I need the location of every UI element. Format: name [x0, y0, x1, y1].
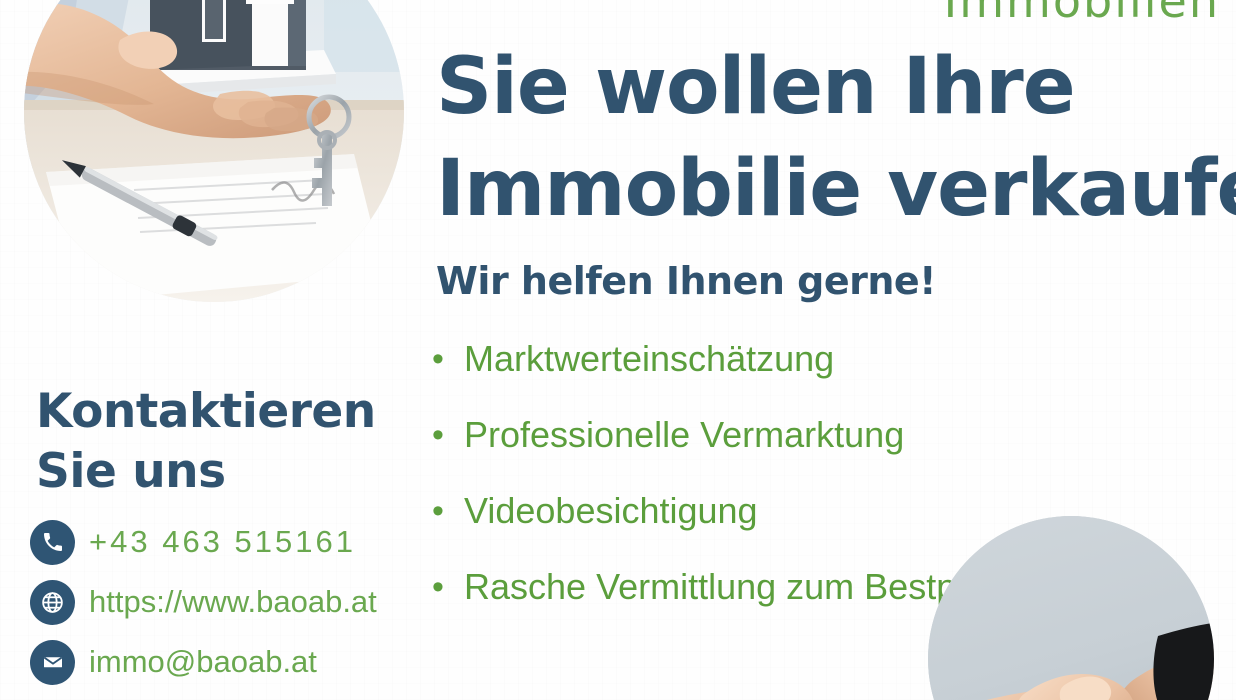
bullet-icon: • — [432, 412, 464, 458]
contact-row-address[interactable] — [30, 692, 410, 700]
headline-line-2: Immobilie verkaufen? — [436, 138, 1206, 240]
house-photo — [24, 0, 404, 302]
headline-block: Sie wollen Ihre Immobilie verkaufen? — [436, 36, 1206, 240]
contact-row-phone[interactable]: +43 463 515161 — [30, 512, 410, 572]
phone-icon — [30, 520, 75, 565]
globe-icon — [30, 580, 75, 625]
bullet-icon: • — [432, 488, 464, 534]
bullet-icon: • — [432, 336, 464, 382]
house-photo-illustration — [24, 0, 404, 302]
benefit-item: • Professionelle Vermarktung — [432, 412, 1172, 488]
contact-list: +43 463 515161 https://www.baoab.at — [30, 512, 410, 700]
contact-row-website[interactable]: https://www.baoab.at — [30, 572, 410, 632]
contact-heading: Kontaktieren Sie uns — [36, 382, 366, 502]
contact-phone-value: +43 463 515161 — [89, 524, 356, 560]
contact-email-value: immo@baoab.at — [89, 644, 317, 680]
envelope-icon — [30, 640, 75, 685]
subheadline: Wir helfen Ihnen gerne! — [436, 258, 936, 304]
contact-website-value: https://www.baoab.at — [89, 584, 377, 620]
benefit-label: Marktwerteinschätzung — [464, 336, 834, 382]
headline-line-1: Sie wollen Ihre — [436, 36, 1206, 138]
contact-heading-line-2: Sie uns — [36, 442, 366, 502]
brand-logo-text: Immobilien — [944, 0, 1220, 28]
contact-heading-line-1: Kontaktieren — [36, 382, 366, 442]
bullet-icon: • — [432, 564, 464, 610]
benefit-label: Professionelle Vermarktung — [464, 412, 904, 458]
flyer-canvas: Immobilien — [0, 0, 1236, 700]
benefit-item: • Marktwerteinschätzung — [432, 336, 1172, 412]
contact-row-email[interactable]: immo@baoab.at — [30, 632, 410, 692]
benefit-label: Rasche Vermittlung zum Bestpreis — [464, 564, 1014, 610]
benefit-label: Videobesichtigung — [464, 488, 758, 534]
